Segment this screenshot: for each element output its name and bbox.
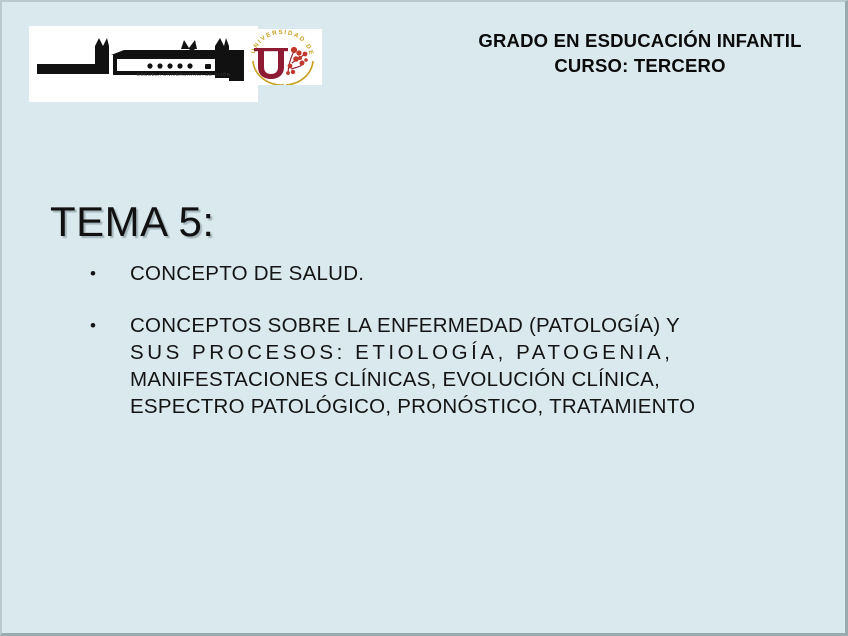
bullet-line: SUS PROCESOS: ETIOLOGÍA, PATOGENIA, — [130, 339, 800, 366]
university-seal-card: UNIVERSIDAD DE OVIEDO — [244, 29, 322, 85]
presentation-slide: ESCUELA UNIVERSITARIA DE GIJÓN UNIVERSID… — [0, 0, 848, 636]
bullet-marker-icon: • — [80, 312, 130, 339]
list-item-text: CONCEPTOS SOBRE LA ENFERMEDAD (PATOLOGÍA… — [130, 312, 800, 420]
list-item: • CONCEPTOS SOBRE LA ENFERMEDAD (PATOLOG… — [80, 312, 800, 420]
header-line-degree: GRADO EN ESDUCACIÓN INFANTIL — [478, 30, 801, 51]
page-title: TEMA 5: — [50, 198, 215, 246]
bullet-marker-icon: • — [80, 260, 130, 287]
bullet-line: CONCEPTOS SOBRE LA ENFERMEDAD (PATOLOGÍA… — [130, 312, 800, 339]
bullet-line: MANIFESTACIONES CLÍNICAS, EVOLUCIÓN CLÍN… — [130, 366, 800, 393]
escuela-universitaria-logo — [29, 26, 258, 102]
universidad-de-oviedo-seal: UNIVERSIDAD DE OVIEDO — [244, 29, 322, 85]
list-item-text: CONCEPTO DE SALUD. — [130, 260, 800, 287]
school-logo-card: ESCUELA UNIVERSITARIA DE GIJÓN — [29, 26, 258, 102]
header-line-course: CURSO: TERCERO — [442, 53, 838, 78]
bullet-line: CONCEPTO DE SALUD. — [130, 260, 800, 287]
bullet-list: • CONCEPTO DE SALUD. • CONCEPTOS SOBRE L… — [80, 260, 800, 420]
school-logo-caption: ESCUELA UNIVERSITARIA DE GIJÓN — [137, 72, 257, 77]
header-course-title: GRADO EN ESDUCACIÓN INFANTIL CURSO: TERC… — [442, 28, 838, 78]
list-item: • CONCEPTO DE SALUD. — [80, 260, 800, 287]
bullet-line: ESPECTRO PATOLÓGICO, PRONÓSTICO, TRATAMI… — [130, 393, 800, 420]
